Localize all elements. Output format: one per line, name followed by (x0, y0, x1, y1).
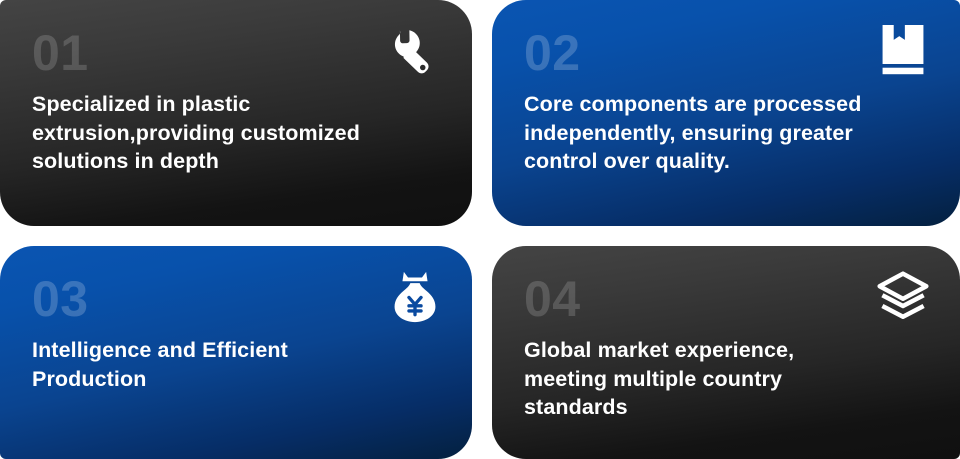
layers-stack-icon (876, 270, 930, 324)
card-number: 04 (524, 274, 581, 324)
card-title: Core components are processed independen… (524, 90, 861, 176)
wrench-icon (388, 24, 442, 78)
feature-card-02[interactable]: 02 Core components are processed indepen… (492, 0, 960, 226)
book-bookmark-icon (876, 24, 930, 78)
feature-card-grid: 01 Specialized in plastic extrusion,prov… (0, 0, 960, 459)
card-title: Specialized in plastic extrusion,providi… (32, 90, 360, 176)
card-title: Intelligence and Efficient Production (32, 336, 288, 393)
feature-card-01[interactable]: 01 Specialized in plastic extrusion,prov… (0, 0, 472, 226)
money-bag-yen-icon (388, 270, 442, 324)
card-title: Global market experience, meeting multip… (524, 336, 794, 422)
card-number: 03 (32, 274, 89, 324)
feature-card-03[interactable]: 03 Intelligence and Efficient Production (0, 246, 472, 459)
feature-card-04[interactable]: 04 Global market experience, meeting mul… (492, 246, 960, 459)
card-number: 01 (32, 28, 89, 78)
card-number: 02 (524, 28, 581, 78)
